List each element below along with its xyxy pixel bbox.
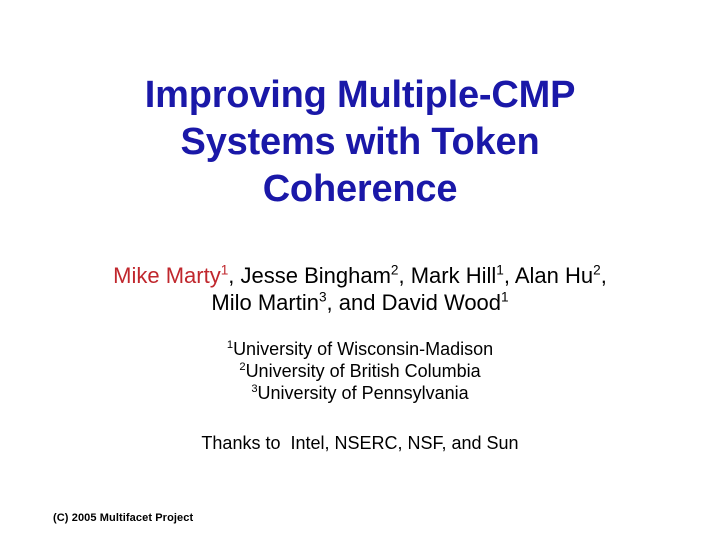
- affiliation-list: 1University of Wisconsin-Madison 2Univer…: [36, 338, 684, 404]
- author-4-sup: 2: [593, 263, 601, 278]
- affiliation-2: 2University of British Columbia: [36, 360, 684, 382]
- title-line-3: Coherence: [60, 166, 660, 213]
- slide-body: Mike Marty1, Jesse Bingham2, Mark Hill1,…: [36, 262, 684, 454]
- author-6: , and David Wood1: [327, 290, 509, 315]
- author-highlighted-name: Mike Marty: [113, 263, 221, 288]
- author-line-1: Mike Marty1, Jesse Bingham2, Mark Hill1,…: [36, 262, 684, 289]
- author-line-2: Milo Martin3, and David Wood1: [36, 289, 684, 316]
- author-line-1-trailing-comma: ,: [601, 263, 607, 288]
- author-4: , Alan Hu2: [504, 263, 601, 288]
- copyright-footer: (C) 2005 Multifacet Project: [53, 512, 193, 525]
- author-2-sup: 2: [391, 263, 399, 278]
- affiliation-2-name: University of British Columbia: [246, 361, 481, 381]
- title-line-1: Improving Multiple-CMP: [60, 72, 660, 119]
- affiliation-3: 3University of Pennsylvania: [36, 382, 684, 404]
- slide-title: Improving Multiple-CMP Systems with Toke…: [60, 72, 660, 213]
- author-2-name: , Jesse Bingham: [228, 263, 391, 288]
- author-list: Mike Marty1, Jesse Bingham2, Mark Hill1,…: [36, 262, 684, 316]
- author-highlighted: Mike Marty1: [113, 263, 228, 288]
- acknowledgements: Thanks to Intel, NSERC, NSF, and Sun: [36, 432, 684, 454]
- affiliation-1-name: University of Wisconsin-Madison: [233, 339, 493, 359]
- author-6-name: , and David Wood: [327, 290, 501, 315]
- affiliation-3-name: University of Pennsylvania: [258, 383, 469, 403]
- affiliation-1: 1University of Wisconsin-Madison: [36, 338, 684, 360]
- author-5: Milo Martin3: [211, 290, 326, 315]
- author-3-name: , Mark Hill: [399, 263, 497, 288]
- title-line-2: Systems with Token: [60, 119, 660, 166]
- author-3: , Mark Hill1: [399, 263, 504, 288]
- author-5-name: Milo Martin: [211, 290, 319, 315]
- author-5-sup: 3: [319, 290, 327, 305]
- author-6-sup: 1: [501, 290, 509, 305]
- author-2: , Jesse Bingham2: [228, 263, 398, 288]
- presentation-slide: Improving Multiple-CMP Systems with Toke…: [0, 0, 720, 540]
- author-3-sup: 1: [496, 263, 504, 278]
- author-4-name: , Alan Hu: [504, 263, 593, 288]
